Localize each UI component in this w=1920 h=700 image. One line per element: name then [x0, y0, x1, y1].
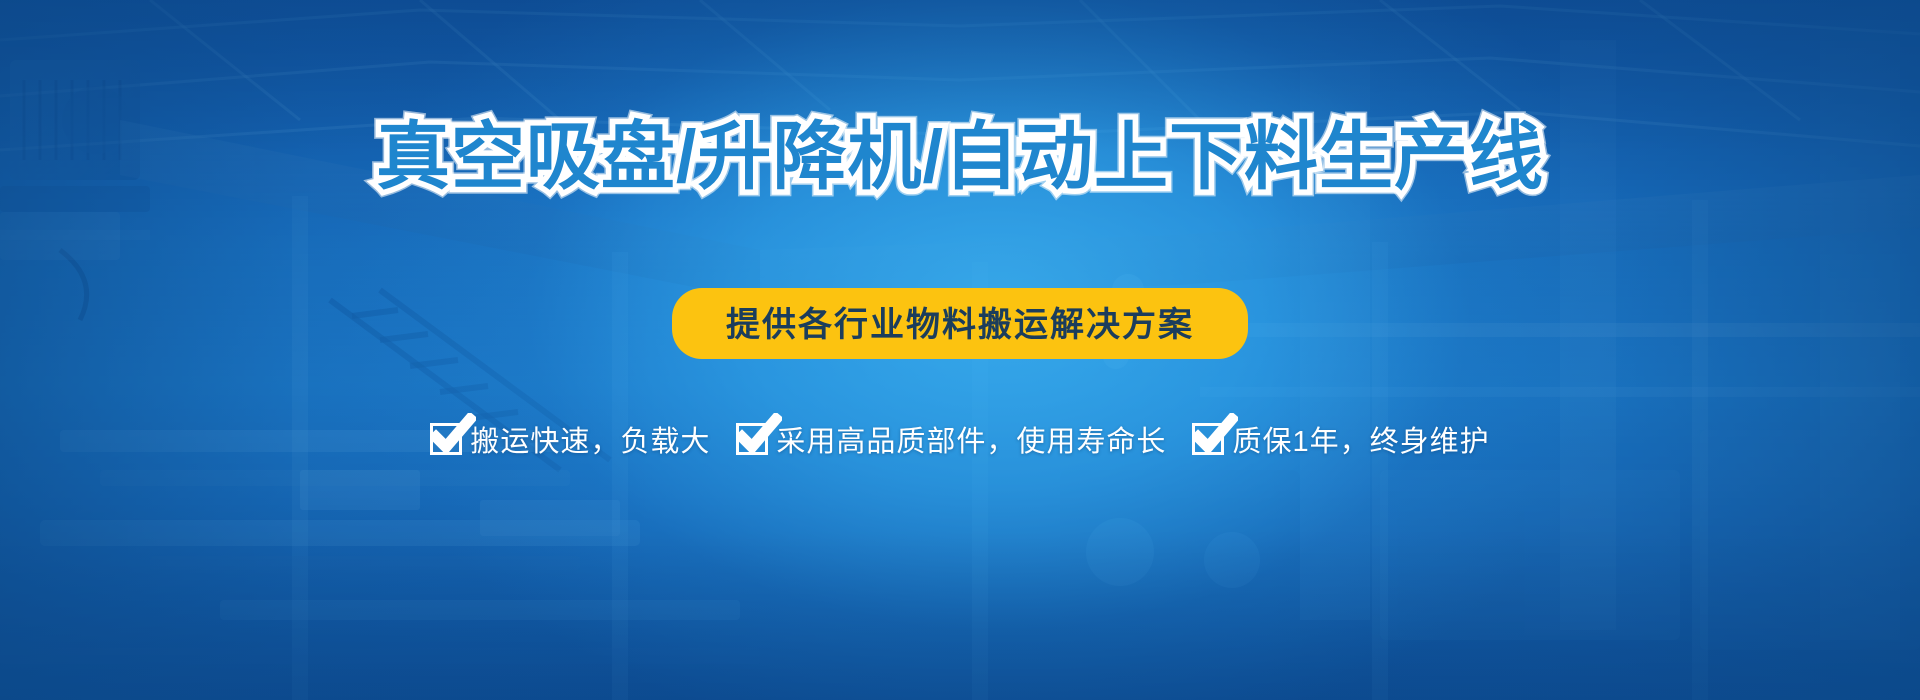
check-mark-icon: [430, 423, 462, 455]
feature-label-1: 搬运快速，负载大: [470, 418, 710, 460]
subtitle-pill-wrapper: 提供各行业物料搬运解决方案: [0, 288, 1920, 359]
banner-title: 真空吸盘/升降机/自动上下料生产线: [0, 118, 1920, 196]
feature-item-2: 采用高品质部件，使用寿命长: [736, 418, 1166, 460]
feature-list: 搬运快速，负载大 采用高品质部件，使用寿命长 质保1年，终身维护: [0, 418, 1920, 460]
feature-label-3: 质保1年，终身维护: [1232, 418, 1489, 460]
check-mark-icon: [736, 423, 768, 455]
check-mark-icon: [1192, 423, 1224, 455]
feature-item-1: 搬运快速，负载大: [430, 418, 710, 460]
hero-banner: 真空吸盘/升降机/自动上下料生产线 真空吸盘/升降机/自动上下料生产线 提供各行…: [0, 0, 1920, 700]
subtitle-pill: 提供各行业物料搬运解决方案: [672, 288, 1248, 359]
feature-label-2: 采用高品质部件，使用寿命长: [776, 418, 1166, 460]
feature-item-3: 质保1年，终身维护: [1192, 418, 1489, 460]
banner-content: 真空吸盘/升降机/自动上下料生产线 真空吸盘/升降机/自动上下料生产线 提供各行…: [0, 0, 1920, 700]
